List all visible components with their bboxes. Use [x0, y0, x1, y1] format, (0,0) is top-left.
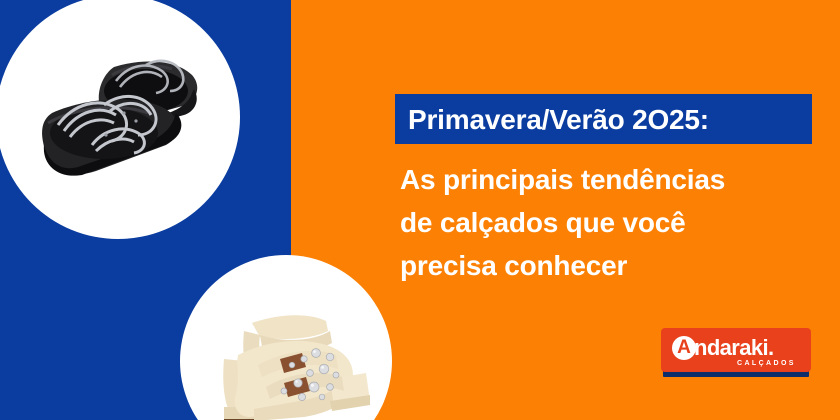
headline-line-3: precisa conhecer [400, 244, 825, 287]
headline-line-1: As principais tendências [400, 158, 825, 201]
headline-line-2: de calçados que você [400, 201, 825, 244]
logo-plate: A ndaraki. CALÇADOS [661, 328, 811, 372]
product-circle-black-sandal [0, 0, 240, 239]
headline-text: As principais tendências de calçados que… [400, 158, 825, 287]
logo-a-circle-icon: A [672, 336, 696, 360]
brand-logo: A ndaraki. CALÇADOS [661, 328, 811, 380]
logo-tagline: CALÇADOS [737, 359, 796, 368]
logo-wordmark: ndaraki. [694, 335, 774, 361]
black-platform-sandal-image [0, 0, 240, 239]
promo-banner: Primavera/Verão 2O25: As principais tend… [0, 0, 840, 420]
kicker-text: Primavera/Verão 2O25: [408, 99, 808, 140]
